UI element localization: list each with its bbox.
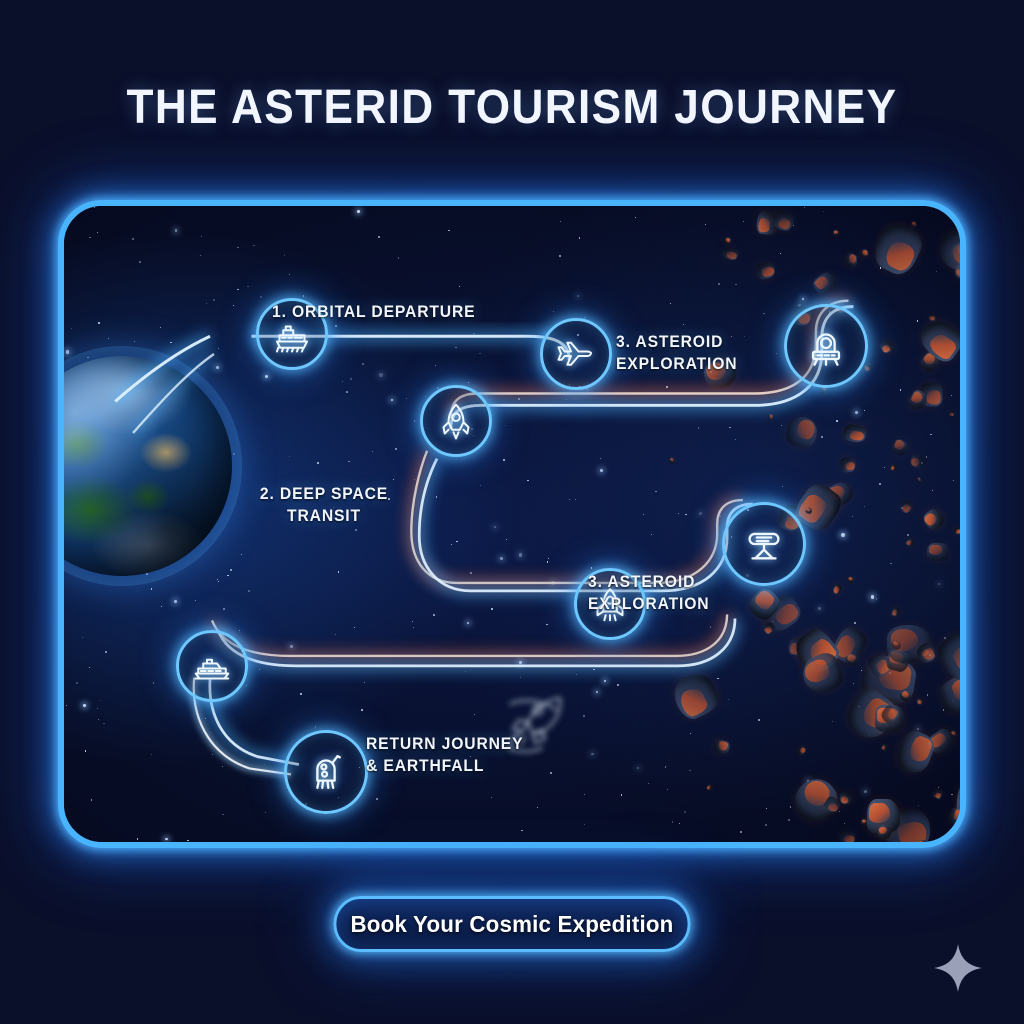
cruise-ship-icon — [272, 314, 312, 354]
node-ship-top[interactable] — [256, 298, 328, 370]
book-expedition-button[interactable]: Book Your Cosmic Expedition — [334, 896, 691, 952]
rocket-icon — [436, 401, 476, 441]
shuttle-plane-icon — [556, 334, 596, 374]
page-title: THE ASTERID TOURISM JOURNEY — [41, 80, 983, 135]
node-capsule-return[interactable] — [284, 730, 368, 814]
node-plane[interactable] — [540, 318, 612, 390]
capsule-icon — [303, 749, 349, 795]
rocket-sketch-icon — [484, 674, 584, 764]
node-rocket-lower[interactable] — [574, 568, 646, 640]
capsule-lander-icon — [803, 323, 849, 369]
node-rover[interactable] — [722, 502, 806, 586]
shuttle-ship-icon — [192, 646, 232, 686]
node-rocket-mid[interactable] — [420, 385, 492, 457]
journey-panel: 1. ORBITAL DEPARTURE 2. DEEP SPACE TRANS… — [58, 200, 966, 848]
node-ship-bottom[interactable] — [176, 630, 248, 702]
node-capsule-top[interactable] — [784, 304, 868, 388]
rover-icon — [741, 521, 787, 567]
panel-frame: 1. ORBITAL DEPARTURE 2. DEEP SPACE TRANS… — [58, 200, 966, 848]
infographic-canvas: THE ASTERID TOURISM JOURNEY — [0, 0, 1024, 1024]
sparkle-star-icon — [930, 940, 986, 996]
rocket-lander-icon — [590, 584, 630, 624]
